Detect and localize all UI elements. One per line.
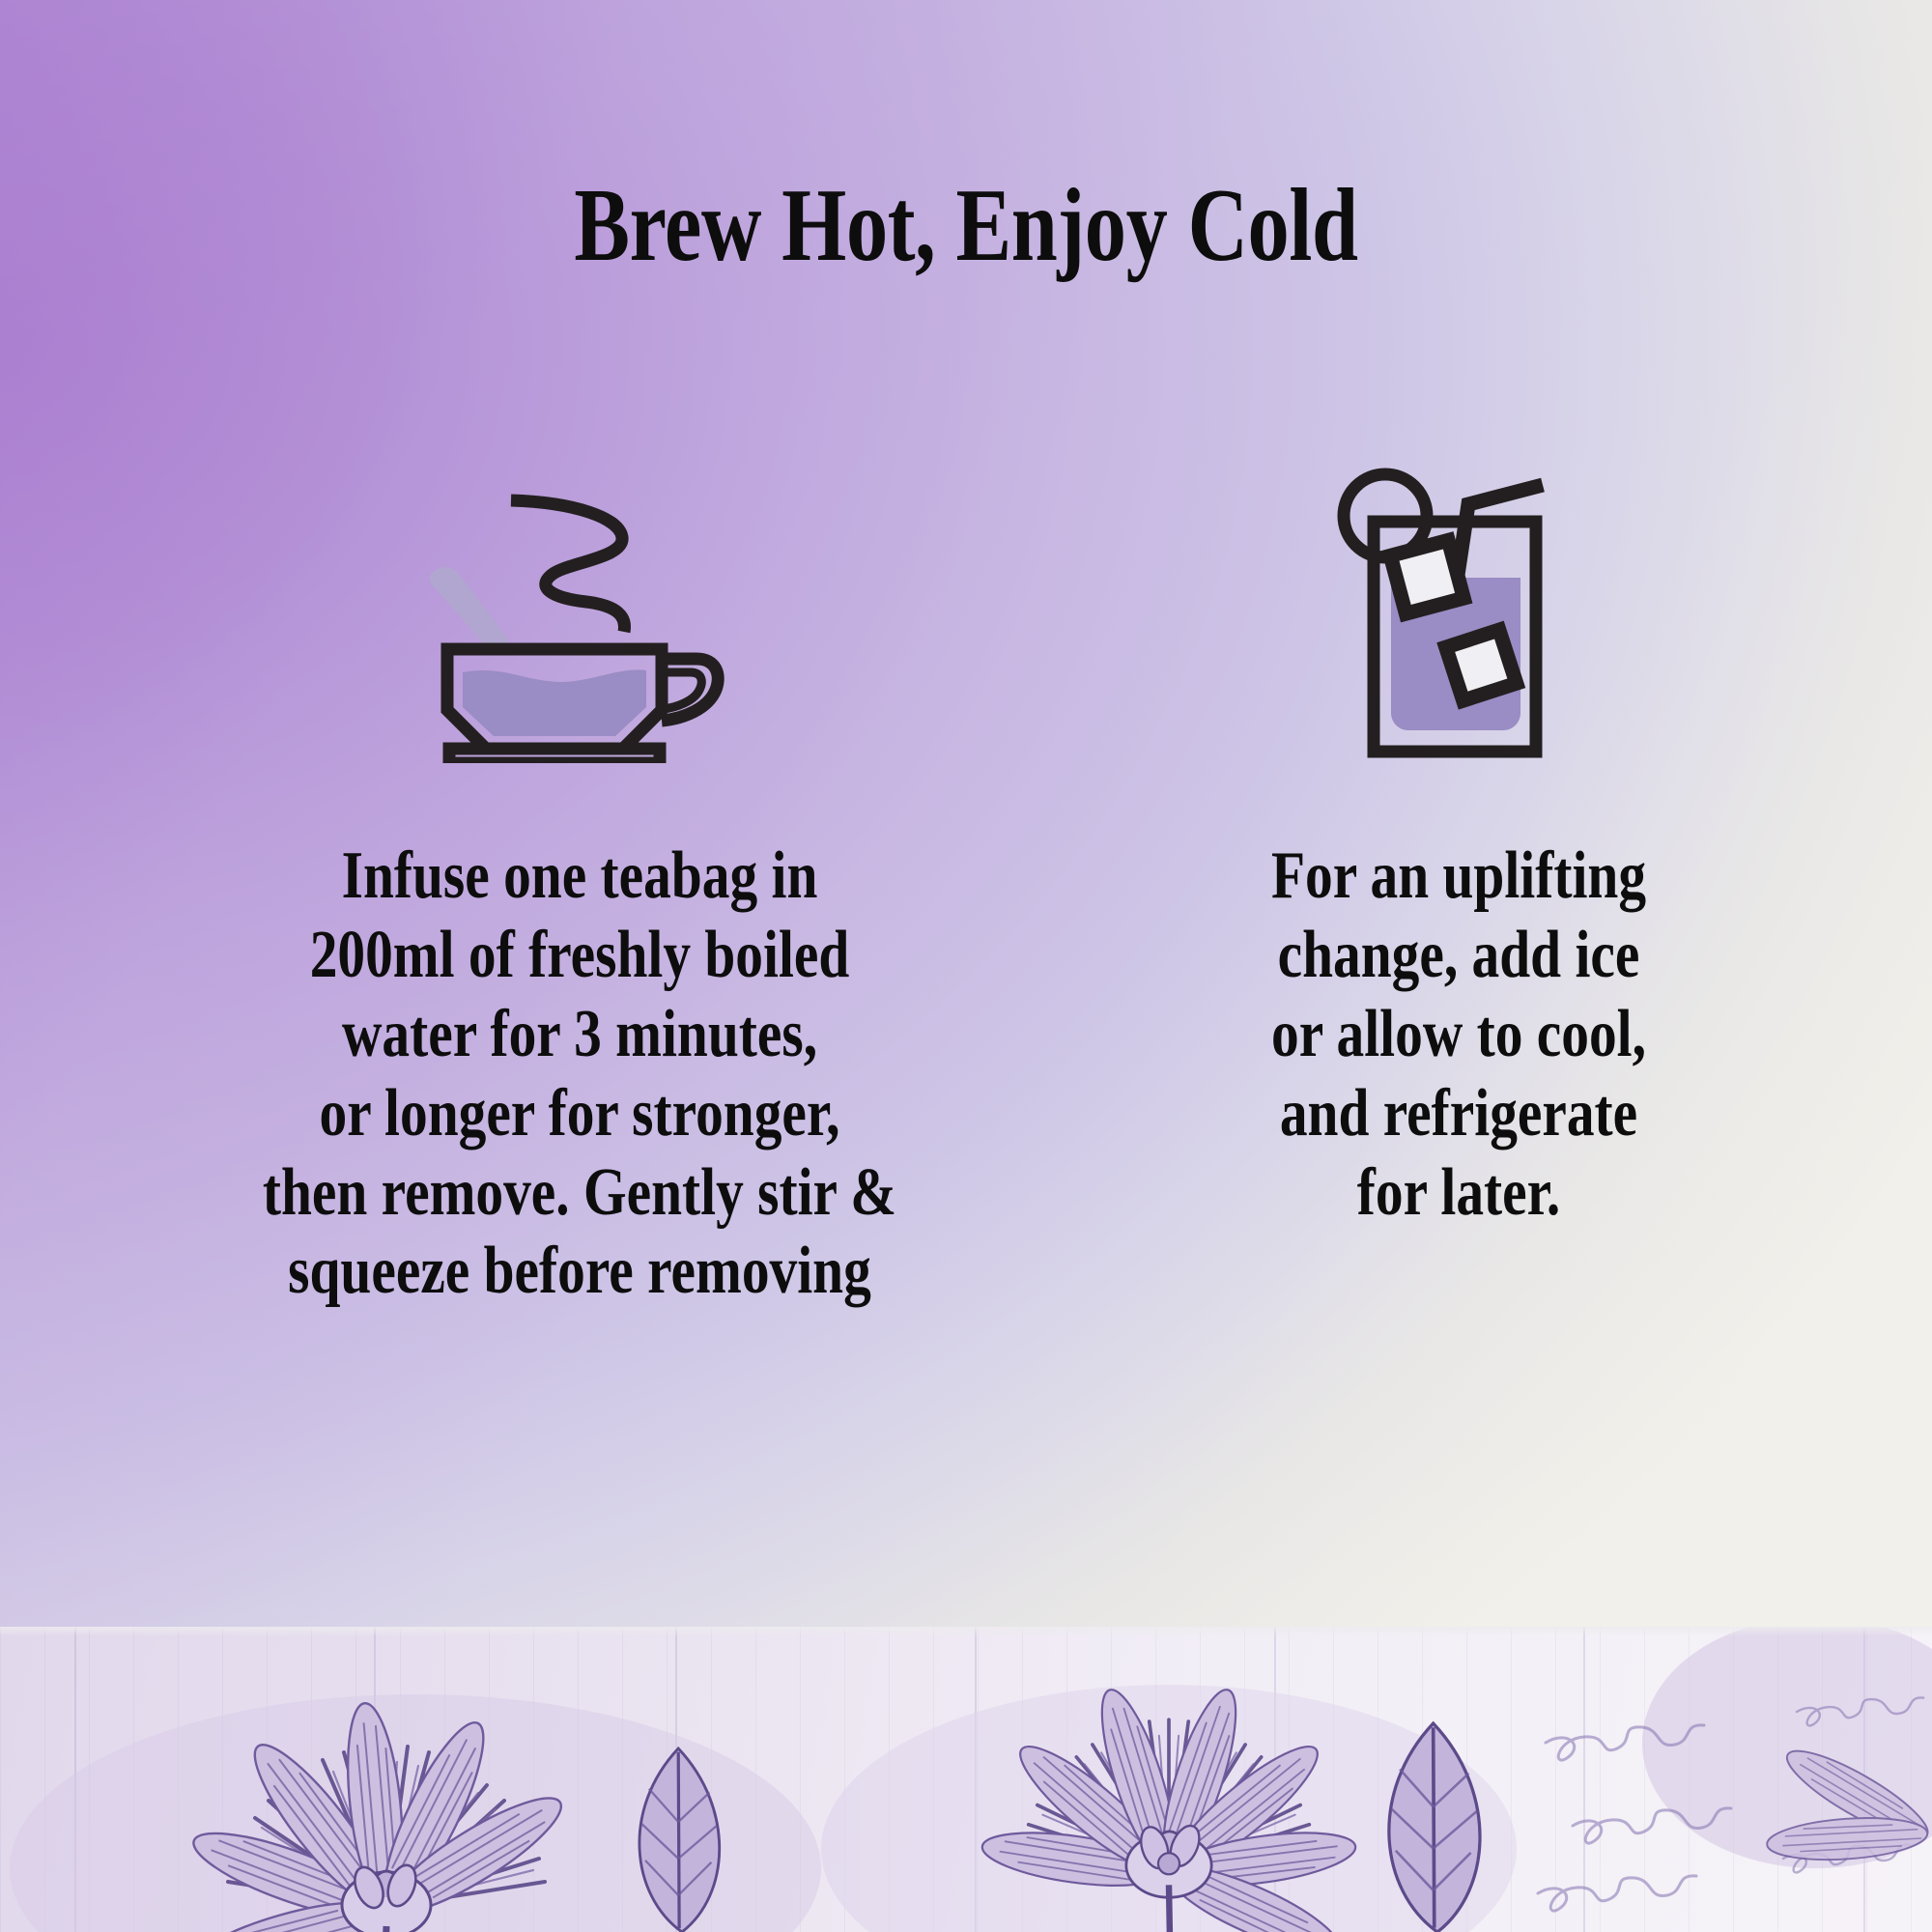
cup-body bbox=[447, 649, 718, 763]
ice-cube-icon bbox=[1446, 630, 1517, 700]
spoon-icon bbox=[430, 567, 509, 655]
footer-floral-band bbox=[0, 1627, 1932, 1932]
column-brew-hot: Infuse one teabag in 200ml of freshly bo… bbox=[77, 454, 1063, 1311]
ice-cube-icon bbox=[1390, 540, 1463, 613]
teacup-icon-container bbox=[420, 454, 739, 773]
passionflower-illustration bbox=[0, 1627, 1932, 1932]
band-top-fade bbox=[0, 1627, 1932, 1636]
teacup-with-steam-icon bbox=[420, 473, 739, 763]
iced-tea-glass-icon bbox=[1314, 464, 1604, 763]
brewing-instructions-columns: Infuse one teabag in 200ml of freshly bo… bbox=[0, 454, 1932, 1311]
column-enjoy-cold: For an uplifting change, add ice or allo… bbox=[1063, 454, 1855, 1232]
iced-tea-icon-container bbox=[1314, 454, 1604, 773]
infographic-canvas: Brew Hot, Enjoy Cold bbox=[0, 0, 1932, 1932]
steam-icon bbox=[511, 500, 625, 632]
page-title: Brew Hot, Enjoy Cold bbox=[193, 174, 1739, 278]
cup-liquid bbox=[463, 669, 646, 736]
caption-brew-hot: Infuse one teabag in 200ml of freshly bo… bbox=[152, 837, 1008, 1311]
caption-enjoy-cold: For an uplifting change, add ice or allo… bbox=[1157, 837, 1759, 1232]
